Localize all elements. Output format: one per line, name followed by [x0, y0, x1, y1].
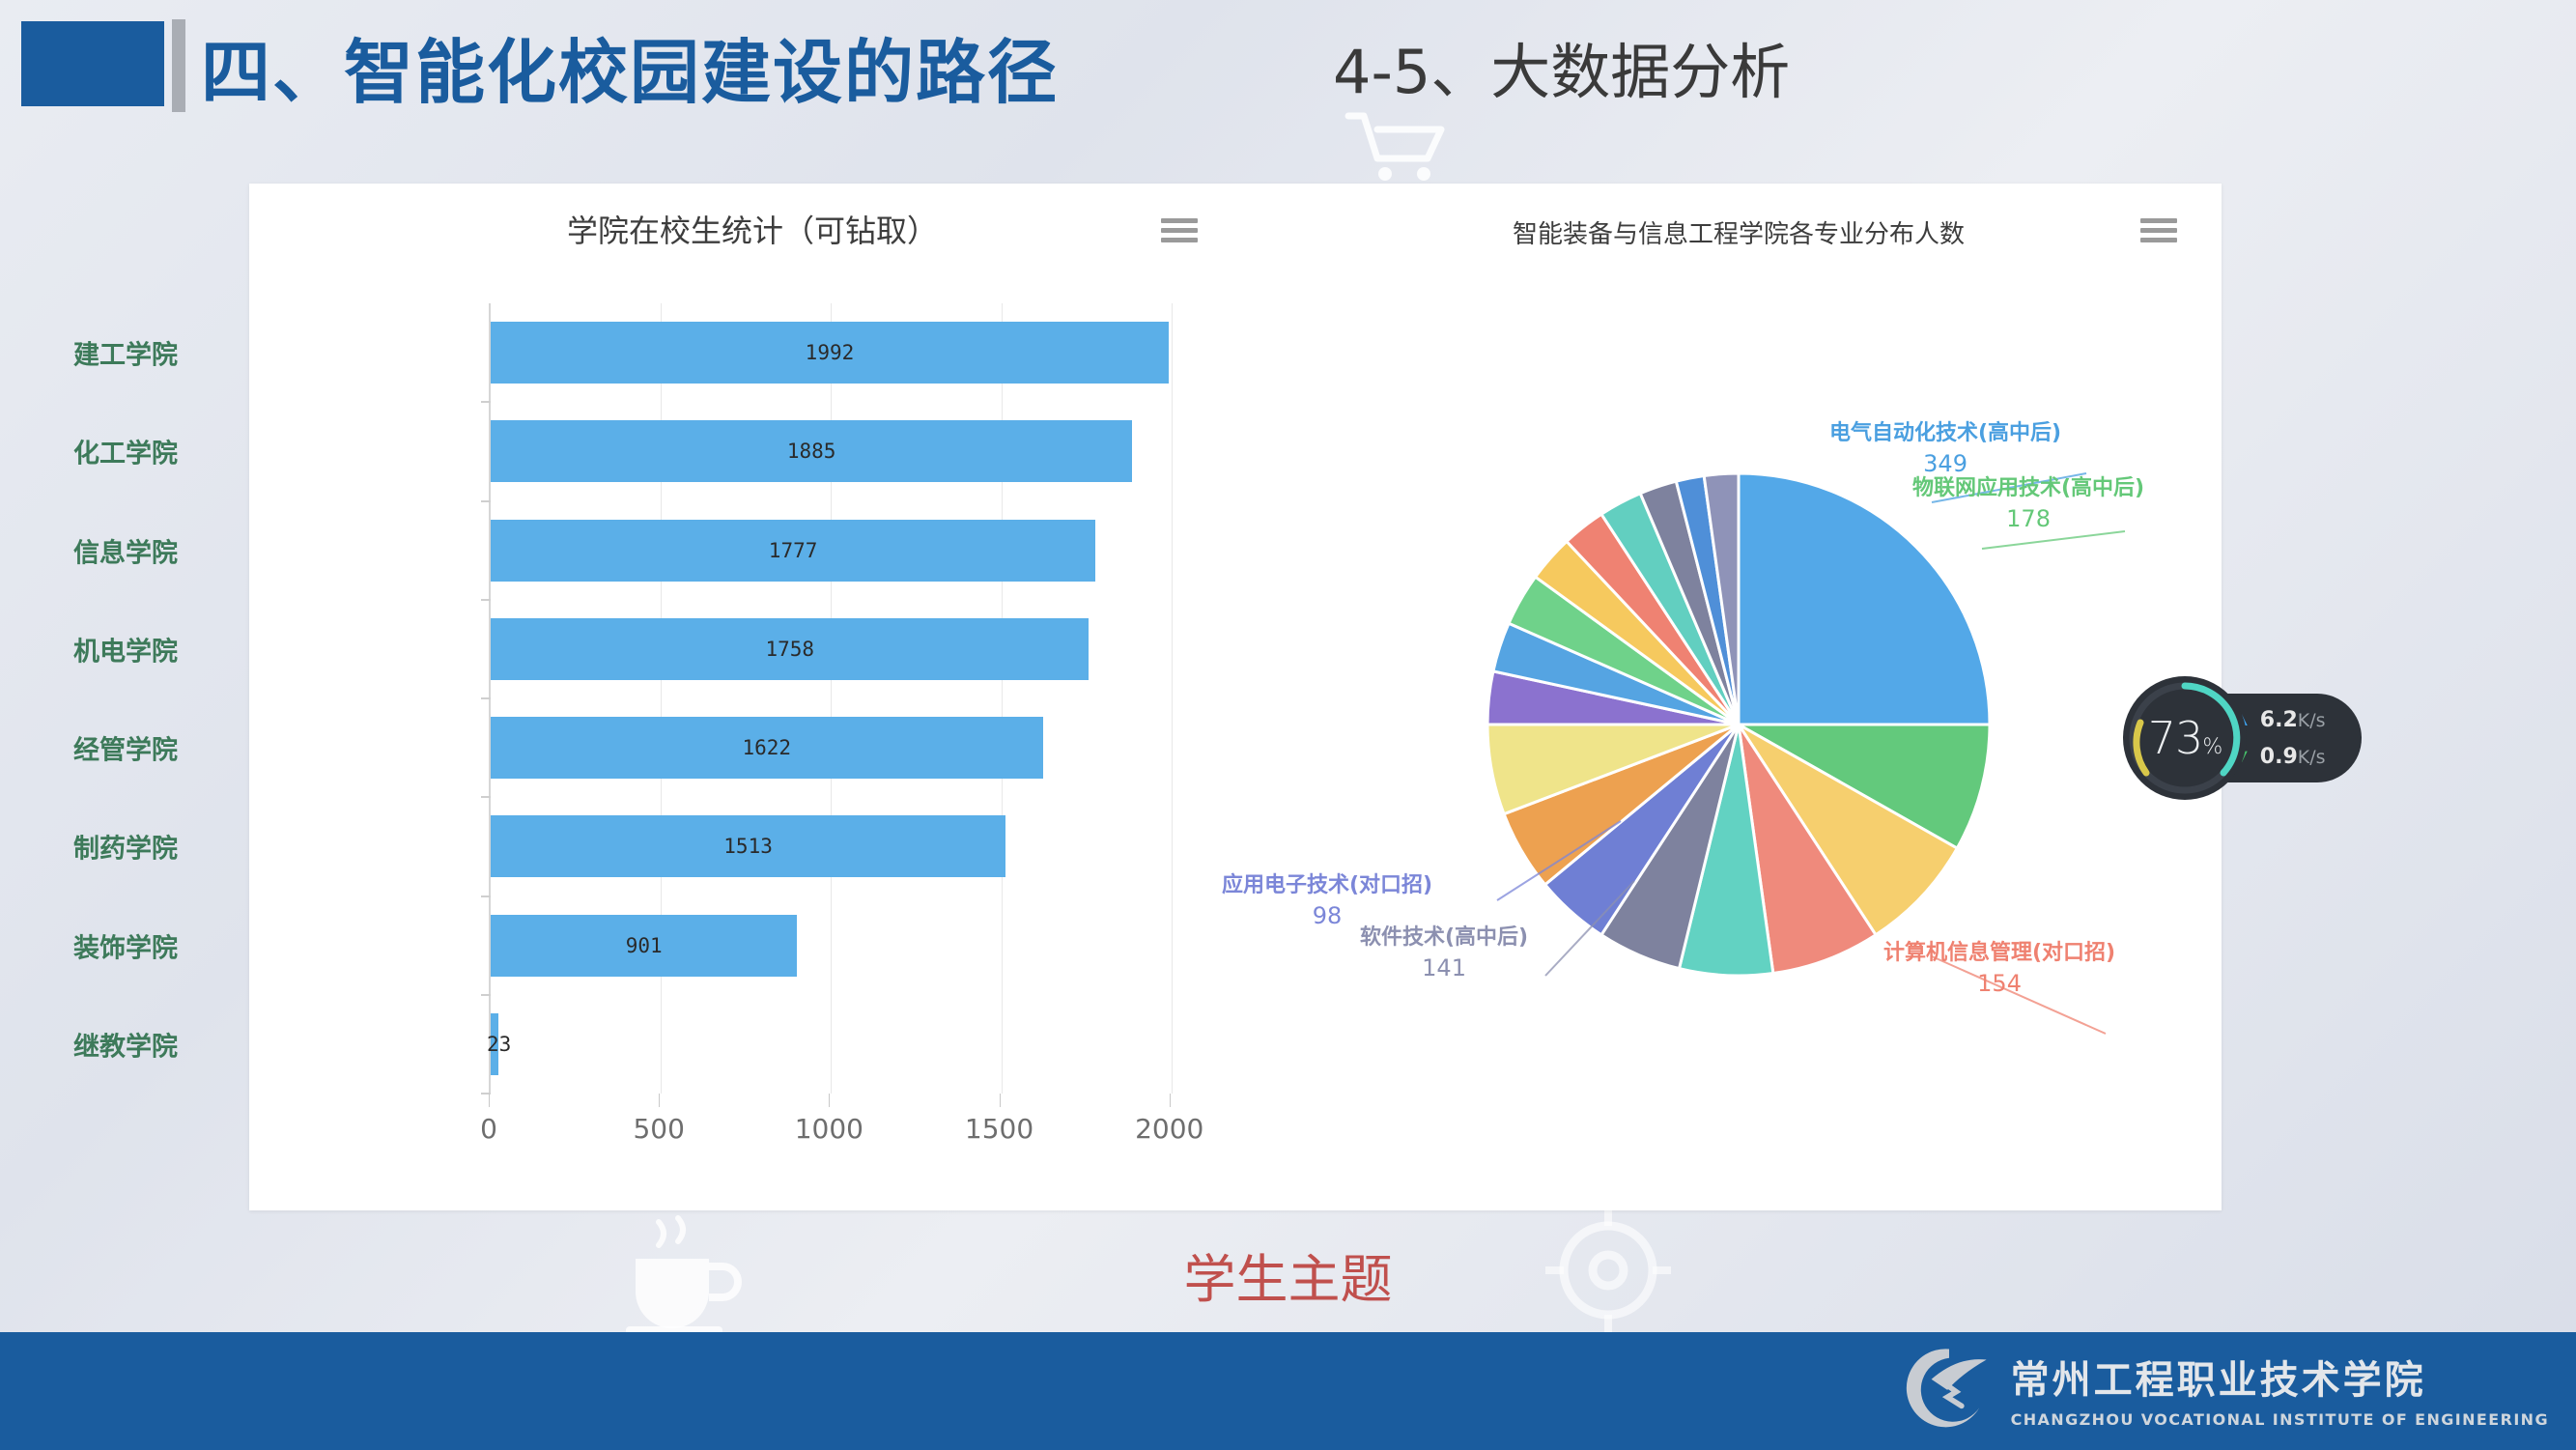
bar-chart-x-tick — [489, 1094, 490, 1107]
pie-chart — [1256, 184, 2222, 1210]
institution-name-en: CHANGZHOU VOCATIONAL INSTITUTE OF ENGINE… — [2011, 1410, 2549, 1429]
upload-speed-value: 6.2K/s — [2260, 708, 2326, 732]
gauge-ring-icon — [2123, 676, 2247, 800]
pie-callout-name: 应用电子技术(对口招) — [1222, 873, 1432, 897]
dashboard-card: 学院在校生统计（可钻取） 建工学院1992化工学院1885信息学院1777机电学… — [249, 184, 2222, 1210]
pie-callout-name: 计算机信息管理(对口招) — [1883, 941, 2115, 965]
bar-chart-category-label: 制药学院 — [0, 828, 199, 866]
header-accent-block — [21, 21, 164, 106]
bar-chart-bar[interactable]: 1992 — [491, 322, 1169, 384]
bar-chart-y-tick — [481, 796, 491, 798]
bar-chart-category-label: 机电学院 — [0, 630, 199, 668]
bar-chart-category-label: 继教学院 — [0, 1025, 199, 1063]
bar-chart-row: 继教学院23 — [491, 995, 1205, 1094]
pie-callout-leader-line — [1982, 531, 2125, 549]
hamburger-menu-icon-left[interactable] — [1161, 218, 1198, 243]
bar-chart-category-label: 建工学院 — [0, 334, 199, 372]
bar-chart-y-tick — [481, 896, 491, 897]
bar-chart: 建工学院1992化工学院1885信息学院1777机电学院1758经管学院1622… — [249, 276, 1256, 1204]
pie-callout-value: 178 — [1912, 505, 2144, 532]
bar-chart-y-tick — [481, 994, 491, 996]
bar-chart-x-tick-label: 500 — [633, 1113, 684, 1145]
pie-callout-label: 电气自动化技术(高中后)349 — [1829, 415, 2061, 477]
bar-chart-bar[interactable]: 1622 — [491, 717, 1043, 779]
bar-chart-title: 学院在校生统计（可钻取） — [249, 207, 1256, 251]
bar-chart-bar[interactable]: 23 — [491, 1013, 498, 1075]
bar-chart-x-tick — [659, 1094, 660, 1107]
download-speed-value: 0.9K/s — [2260, 745, 2326, 769]
bar-chart-bar[interactable]: 901 — [491, 915, 797, 977]
bar-chart-y-tick — [481, 401, 491, 403]
bar-chart-row: 建工学院1992 — [491, 303, 1205, 402]
bar-chart-row: 装饰学院901 — [491, 896, 1205, 995]
bar-chart-bar[interactable]: 1758 — [491, 618, 1089, 680]
bar-chart-value-label: 901 — [491, 934, 797, 957]
bar-chart-x-tick-label: 1000 — [795, 1113, 863, 1145]
bar-chart-category-label: 经管学院 — [0, 729, 199, 767]
pie-callout-label: 物联网应用技术(高中后)178 — [1912, 470, 2144, 532]
bar-chart-bar[interactable]: 1885 — [491, 420, 1132, 482]
pie-chart-svg — [1256, 184, 2222, 1210]
bar-chart-x-tick-label: 2000 — [1135, 1113, 1203, 1145]
institution-name-block: 常州工程职业技术学院 CHANGZHOU VOCATIONAL INSTITUT… — [2011, 1349, 2549, 1429]
bar-chart-y-tick — [481, 500, 491, 502]
bar-chart-y-tick — [481, 599, 491, 601]
pie-callout-value: 98 — [1222, 902, 1432, 929]
bar-chart-value-label: 23 — [487, 1033, 511, 1056]
bar-chart-value-label: 1513 — [491, 835, 1005, 858]
pie-callout-value: 141 — [1360, 954, 1528, 981]
institution-logo: 常州工程职业技术学院 CHANGZHOU VOCATIONAL INSTITUT… — [1905, 1344, 2549, 1433]
bar-chart-x-tick-label: 0 — [480, 1113, 497, 1145]
slide-caption: 学生主题 — [0, 1237, 2576, 1313]
pie-callout-label: 计算机信息管理(对口招)154 — [1883, 935, 2115, 997]
bar-chart-value-label: 1885 — [491, 440, 1132, 463]
bar-chart-x-tick — [829, 1094, 830, 1107]
pie-chart-panel: 智能装备与信息工程学院各专业分布人数 — [1256, 184, 2222, 1210]
bar-chart-plot-area: 建工学院1992化工学院1885信息学院1777机电学院1758经管学院1622… — [489, 303, 1205, 1094]
bar-chart-category-label: 化工学院 — [0, 433, 199, 470]
slide-footer: 常州工程职业技术学院 CHANGZHOU VOCATIONAL INSTITUT… — [0, 1332, 2576, 1450]
bar-chart-category-label: 装饰学院 — [0, 926, 199, 964]
bar-chart-x-tick — [1170, 1094, 1171, 1107]
bar-chart-value-label: 1777 — [491, 539, 1095, 562]
page-subtitle: 4-5、大数据分析 — [1333, 23, 1790, 110]
bar-chart-category-label: 信息学院 — [0, 531, 199, 569]
bar-chart-value-label: 1992 — [491, 341, 1169, 364]
bar-chart-x-tick — [1000, 1094, 1001, 1107]
pie-callout-name: 电气自动化技术(高中后) — [1829, 421, 2061, 445]
bar-chart-bar[interactable]: 1513 — [491, 815, 1005, 877]
bar-chart-value-label: 1622 — [491, 736, 1043, 759]
bar-chart-x-tick-label: 1500 — [965, 1113, 1033, 1145]
pie-callout-value: 154 — [1883, 970, 2115, 997]
bar-chart-row: 机电学院1758 — [491, 600, 1205, 698]
bar-chart-y-tick — [481, 697, 491, 699]
page-title: 四、智能化校园建设的路径 — [201, 15, 1059, 117]
institution-name-cn: 常州工程职业技术学院 — [2011, 1349, 2549, 1405]
bar-chart-row: 信息学院1777 — [491, 501, 1205, 600]
bar-chart-row: 经管学院1622 — [491, 698, 1205, 797]
slide-root: 四、智能化校园建设的路径 4-5、大数据分析 学院在校 — [0, 0, 2576, 1450]
bar-chart-row: 制药学院1513 — [491, 797, 1205, 896]
bar-chart-value-label: 1758 — [491, 638, 1089, 661]
pie-callout-label: 应用电子技术(对口招)98 — [1222, 867, 1432, 929]
header-divider-bar — [172, 19, 185, 112]
cpu-gauge-widget[interactable]: 73% — [2123, 676, 2247, 800]
bar-chart-bar[interactable]: 1777 — [491, 520, 1095, 582]
bar-chart-x-axis: 0500100015002000 — [489, 1094, 1203, 1151]
pie-callout-name: 物联网应用技术(高中后) — [1912, 476, 2144, 500]
bar-chart-panel: 学院在校生统计（可钻取） 建工学院1992化工学院1885信息学院1777机电学… — [249, 184, 1256, 1210]
institution-logo-icon — [1905, 1344, 1994, 1433]
bar-chart-row: 化工学院1885 — [491, 402, 1205, 500]
